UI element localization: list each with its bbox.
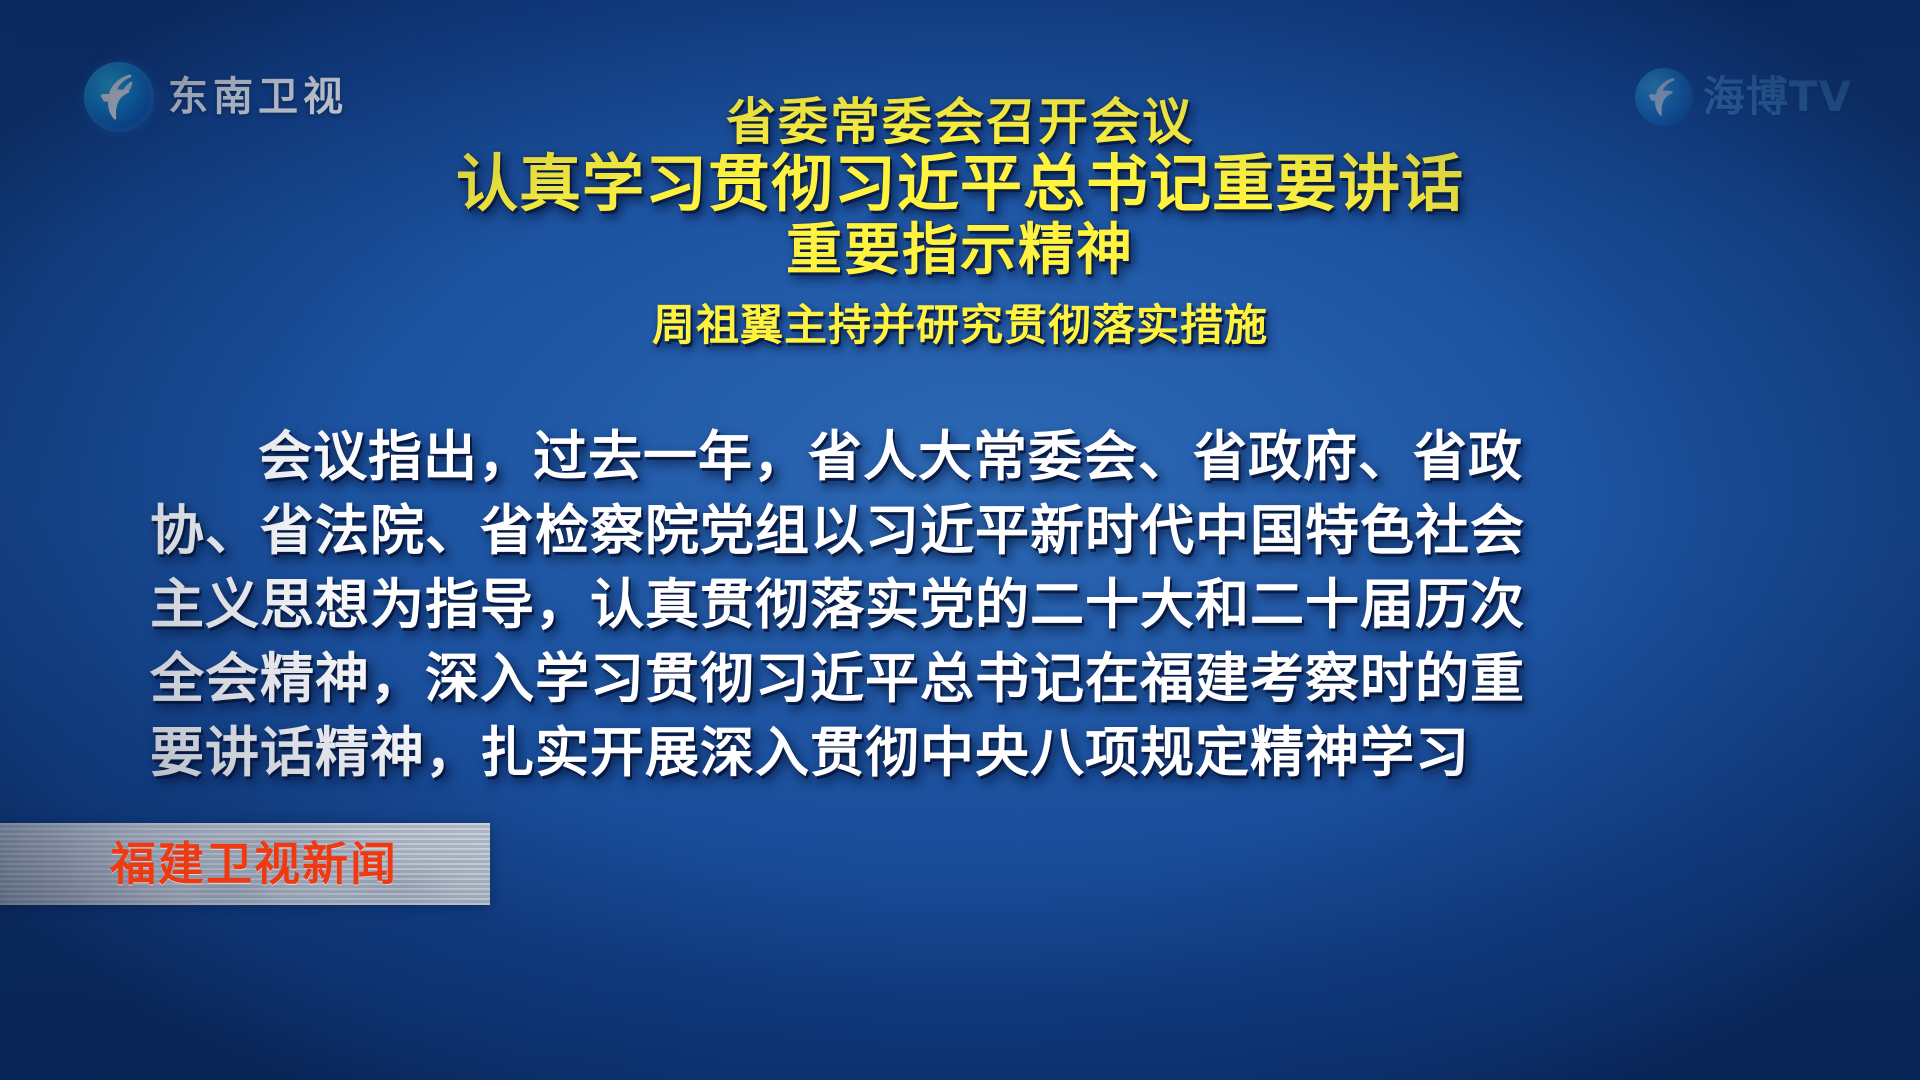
program-title-banner: 福建卫视新闻 bbox=[0, 823, 490, 905]
program-name-label: 福建卫视新闻 bbox=[110, 841, 398, 887]
body-line: 全会精神，深入学习贯彻习近平总书记在福建考察时的重 bbox=[150, 652, 1770, 706]
body-line: 主义思想为指导，认真贯彻落实党的二十大和二十届历次 bbox=[150, 578, 1770, 632]
headline-line-2: 认真学习贯彻习近平总书记重要讲话 bbox=[0, 152, 1920, 216]
body-line: 协、省法院、省检察院党组以习近平新时代中国特色社会 bbox=[150, 504, 1770, 558]
body-line: 会议指出，过去一年，省人大常委会、省政府、省政 bbox=[150, 430, 1770, 484]
broadcast-screen: 东南卫视 海博TV 省委常委会召开会议 认真学习贯彻习近平总书记重要讲话 重要指… bbox=[0, 0, 1920, 1080]
headline-block: 省委常委会召开会议 认真学习贯彻习近平总书记重要讲话 重要指示精神 周祖翼主持并… bbox=[0, 96, 1920, 353]
body-text-block: 会议指出，过去一年，省人大常委会、省政府、省政 协、省法院、省检察院党组以习近平… bbox=[150, 430, 1770, 800]
headline-line-3: 重要指示精神 bbox=[0, 222, 1920, 280]
headline-line-1: 省委常委会召开会议 bbox=[0, 96, 1920, 148]
headline-subtitle: 周祖翼主持并研究贯彻落实措施 bbox=[0, 291, 1920, 353]
body-line: 要讲话精神，扎实开展深入贯彻中央八项规定精神学习 bbox=[150, 726, 1770, 780]
